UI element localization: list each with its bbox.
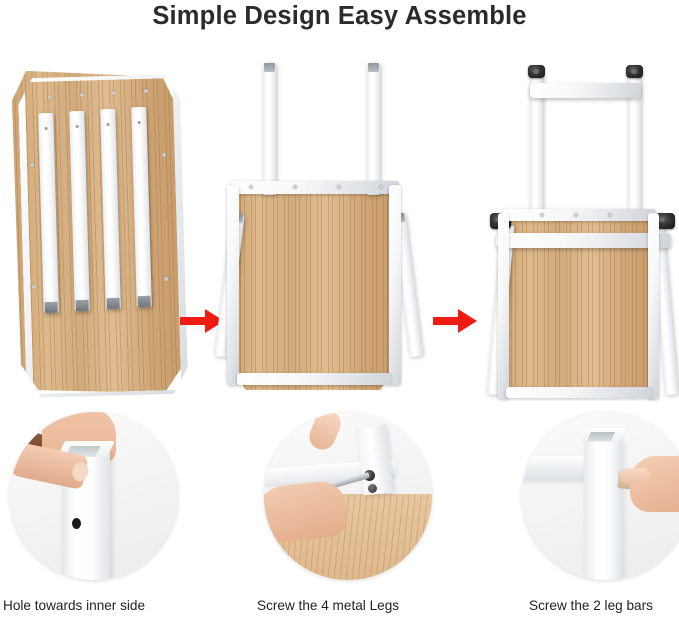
seat-frame-rail: [502, 209, 656, 221]
leg-tip: [106, 298, 119, 309]
finger: [620, 468, 650, 484]
screw-point: [162, 153, 166, 157]
leg-hole: [138, 121, 141, 124]
metal-leg: [584, 438, 622, 580]
detail-photo-screw-4-metal-legs: [264, 412, 432, 580]
leg-hole: [76, 125, 79, 128]
screw-point: [48, 95, 52, 99]
assembly-steps: [0, 55, 679, 405]
seat-board: [229, 185, 397, 390]
screw-point: [144, 89, 148, 93]
arrow-step2-to-step3: [433, 307, 477, 335]
seat-frame-rail: [506, 387, 652, 398]
screw-hole: [72, 518, 81, 529]
hand: [264, 479, 349, 544]
screw-point: [293, 185, 297, 189]
leg-hole: [107, 123, 110, 126]
screw-point: [164, 277, 168, 281]
seat-frame-rail: [389, 185, 401, 385]
leg-tip: [44, 302, 57, 313]
leg-tip: [137, 296, 150, 307]
seat-frame-rail: [648, 213, 659, 399]
screw-point: [379, 185, 383, 189]
leg-hole: [45, 127, 48, 130]
foot-cap: [626, 65, 643, 78]
assembly-step-1: [8, 55, 198, 405]
detail-captions: Hole towards inner side Screw the 4 meta…: [0, 598, 679, 620]
assembly-step-3: [478, 55, 678, 405]
leg-tip: [368, 63, 379, 72]
hand: [630, 456, 679, 512]
leg-bar: [496, 233, 671, 248]
screw-head: [368, 484, 377, 493]
seat-frame-rail: [231, 181, 399, 194]
detail-photo-hole-towards-inner-side: [10, 412, 178, 580]
screw-point: [30, 163, 34, 167]
metal-leg: [263, 63, 276, 195]
detail-photos: [0, 412, 679, 587]
screw-point: [112, 91, 116, 95]
foot-cap: [528, 65, 545, 78]
screw-point: [540, 213, 544, 217]
leg-bar: [522, 456, 592, 480]
screw-point: [337, 185, 341, 189]
seat-frame-rail: [498, 213, 509, 399]
screw-point: [574, 213, 578, 217]
caption-hole-towards-inner-side: Hole towards inner side: [3, 598, 145, 613]
caption-screw-2-leg-bars: Screw the 2 leg bars: [529, 598, 653, 613]
screw-point: [249, 185, 253, 189]
assembly-step-2: [215, 55, 420, 405]
leg-bar: [530, 83, 641, 98]
leg-tip: [75, 300, 88, 311]
screw-point: [608, 213, 612, 217]
metal-leg: [367, 63, 380, 195]
seat-frame-rail: [227, 185, 239, 385]
tube-inner: [587, 432, 615, 441]
seat-frame-rail: [237, 373, 391, 385]
screw-point: [32, 285, 36, 289]
detail-photo-screw-2-leg-bars: [522, 412, 679, 580]
caption-screw-4-metal-legs: Screw the 4 metal Legs: [257, 598, 399, 613]
page-title: Simple Design Easy Assemble: [0, 2, 679, 31]
screw-point: [80, 93, 84, 97]
leg-tip: [264, 63, 275, 72]
